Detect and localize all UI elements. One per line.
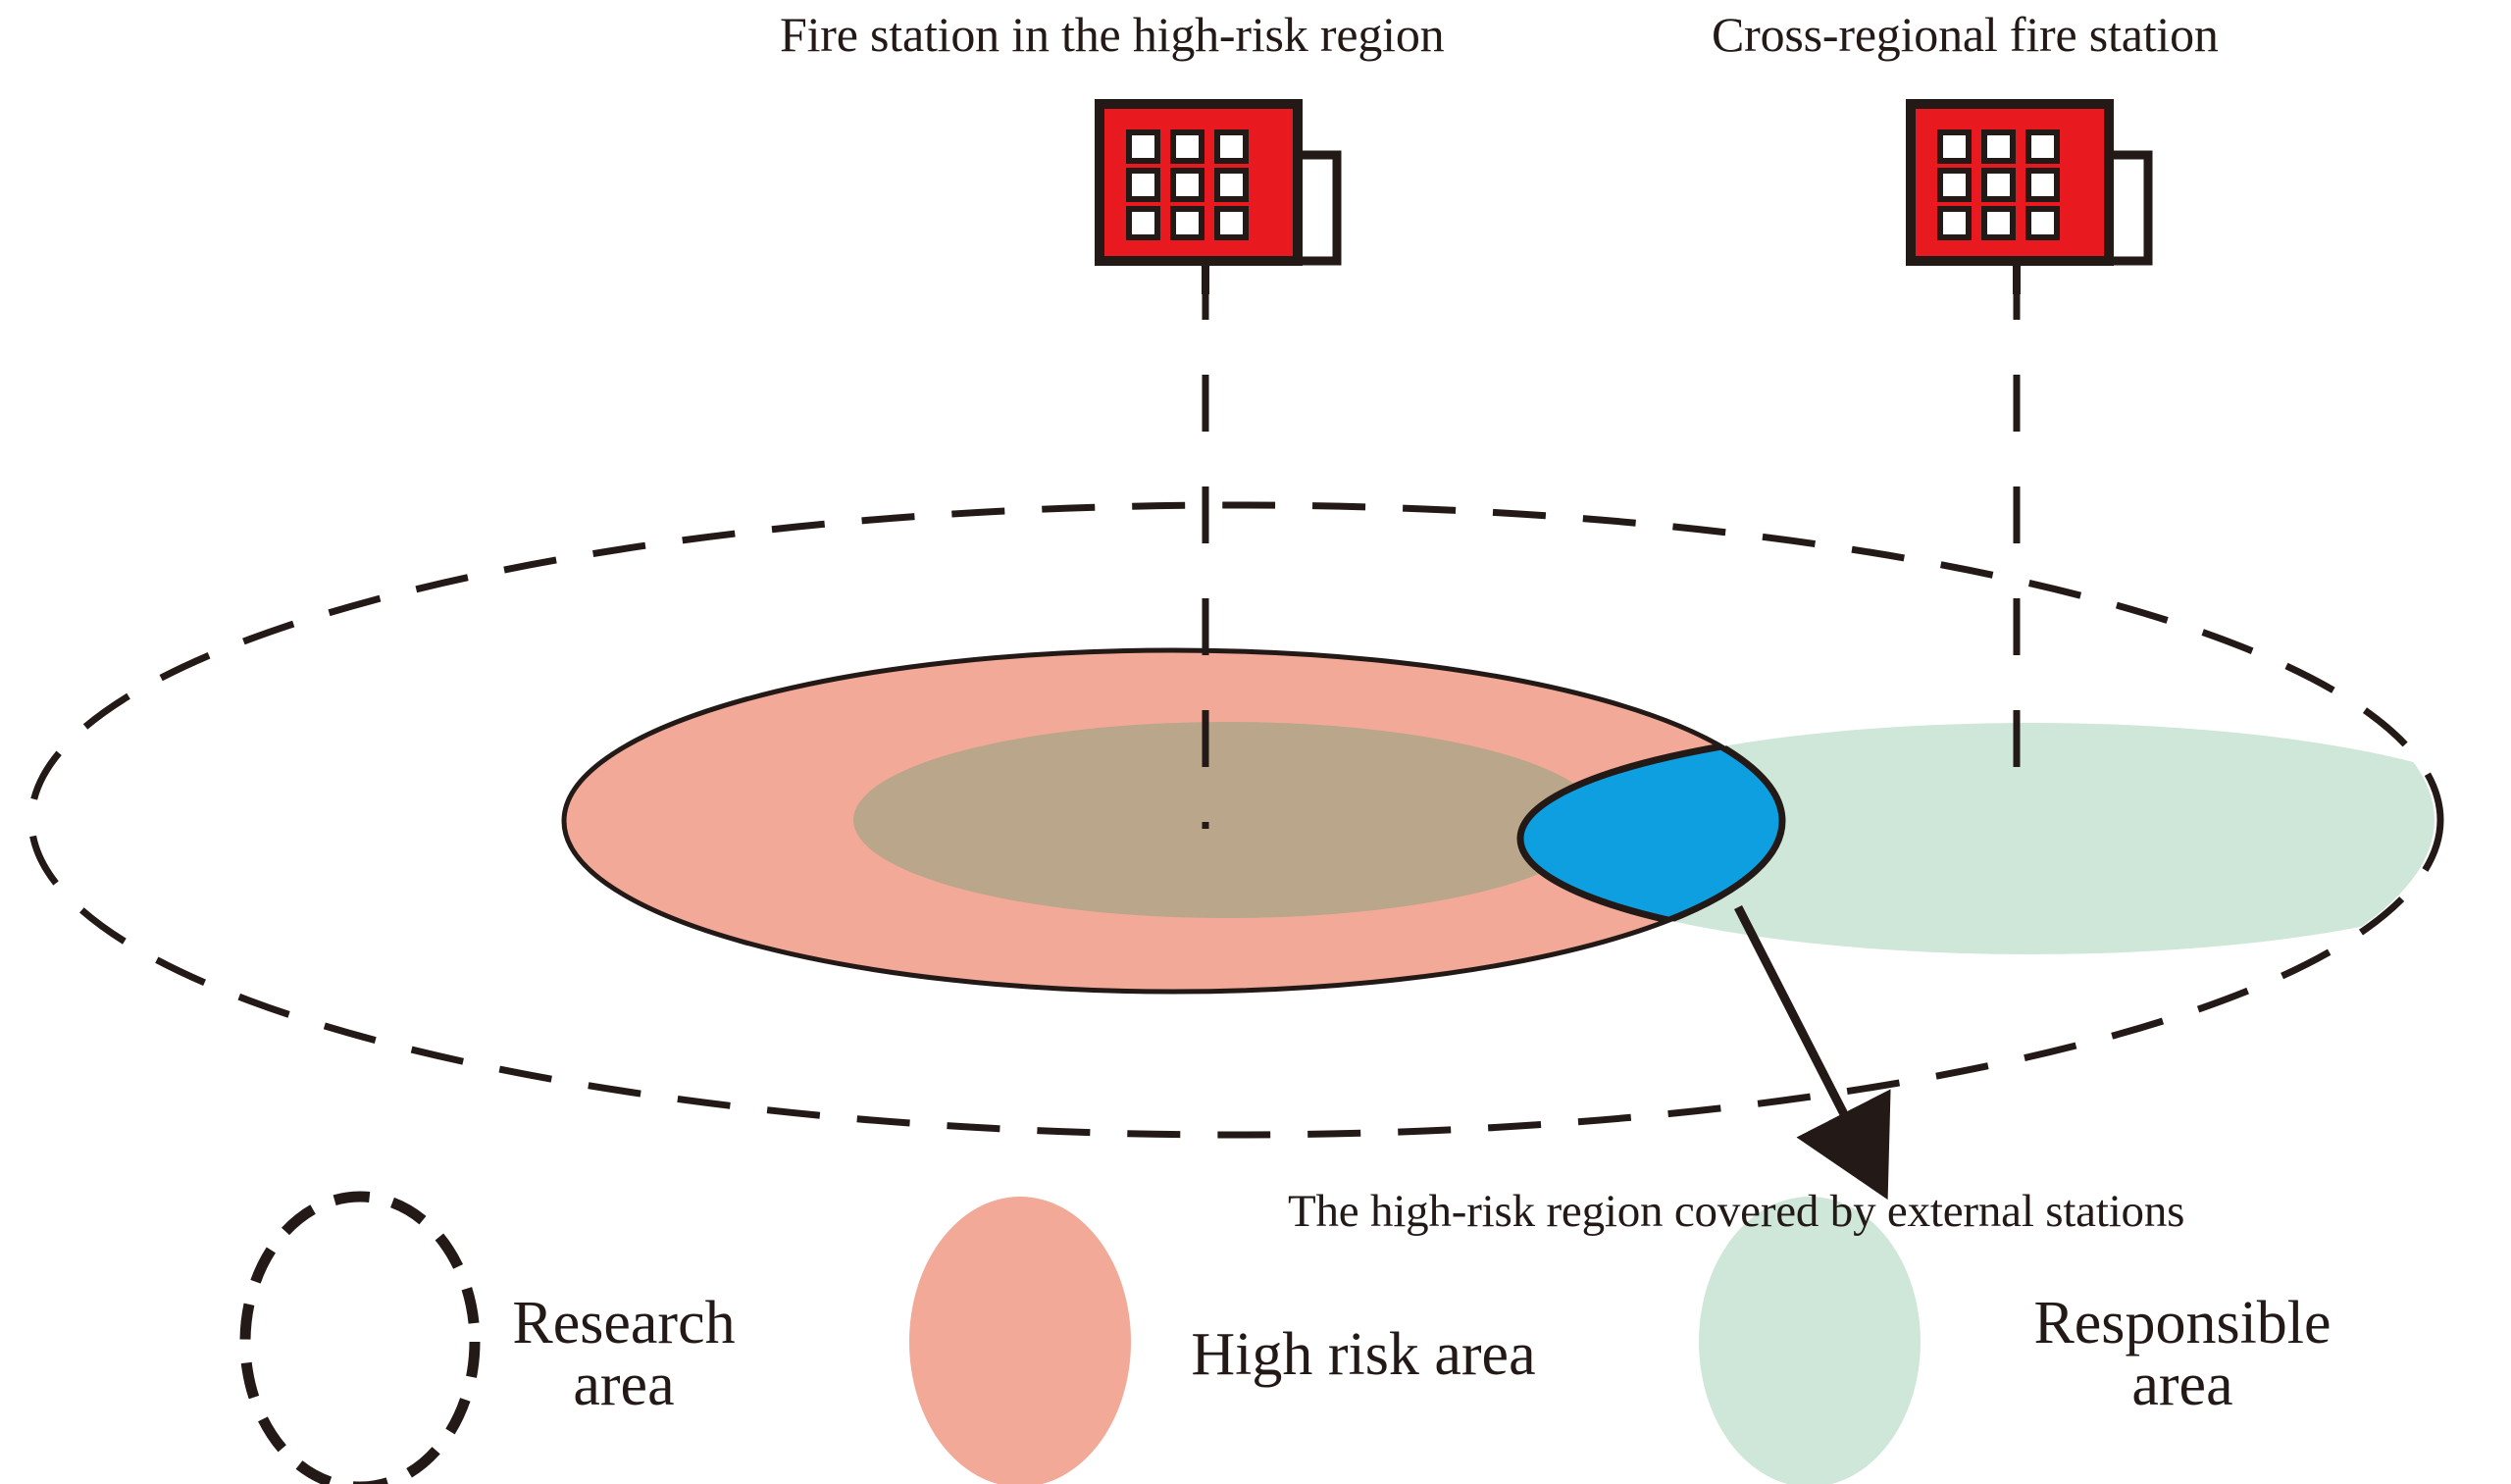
legend-label-high-risk-area: High risk area: [1108, 1324, 1618, 1386]
annotation-covered-high-risk-region: The high-risk region covered by external…: [1288, 1189, 2184, 1235]
legend-label-research-area: Researcharea: [457, 1293, 791, 1416]
caption-cross-regional-station: Cross-regional fire station: [1712, 10, 2219, 59]
high-risk-core-ellipse: [853, 722, 1601, 918]
legend-label-responsible-area: Responsiblearea: [1952, 1293, 2413, 1416]
fire-station-icon-high-risk[interactable]: [1100, 104, 1337, 294]
legend-swatch-high-risk-area: [909, 1197, 1131, 1484]
fire-station-windows: [1940, 132, 2057, 237]
fire-station-windows: [1129, 132, 1246, 237]
caption-fire-station-high-risk: Fire station in the high-risk region: [780, 10, 1444, 59]
diagram-canvas: Fire station in the high-risk region Cro…: [0, 0, 2511, 1484]
fire-station-icon-cross-regional[interactable]: [1911, 104, 2148, 294]
legend-swatch-responsible-area: [1699, 1197, 1921, 1484]
figure-svg: [0, 0, 2511, 1484]
legend-swatch-research-area: [245, 1197, 475, 1484]
